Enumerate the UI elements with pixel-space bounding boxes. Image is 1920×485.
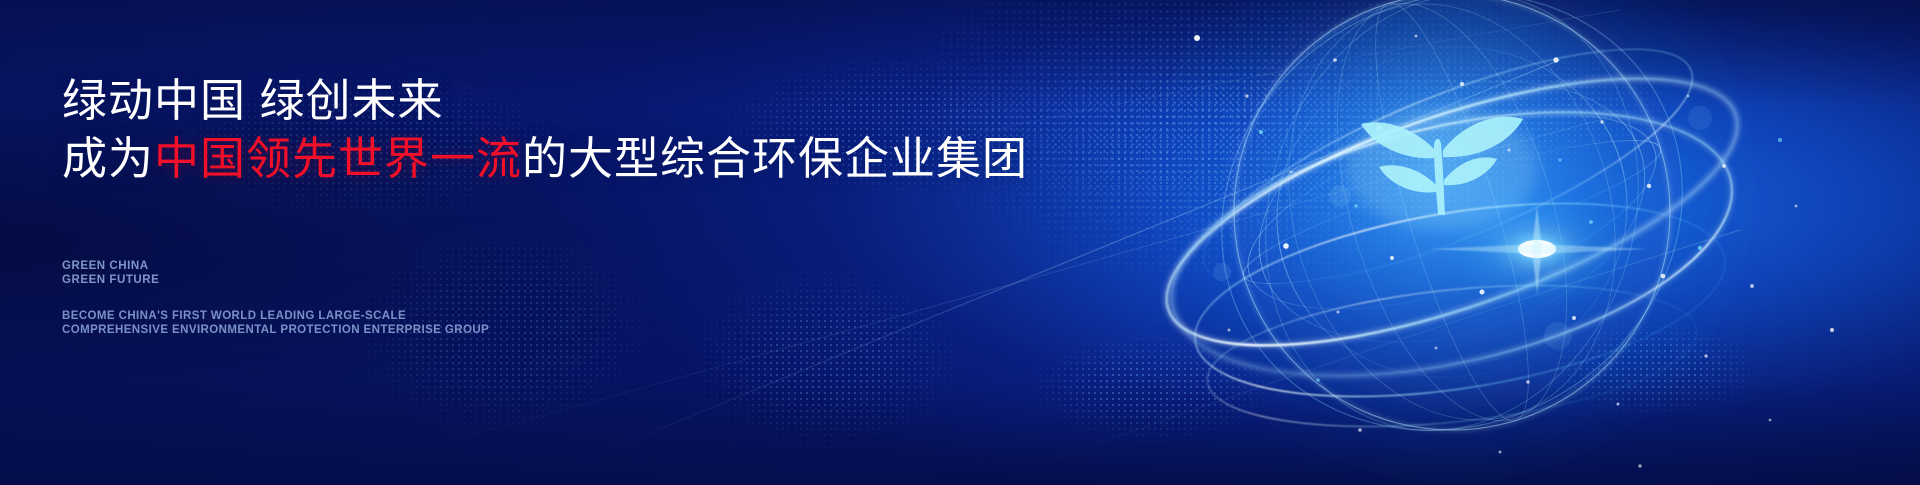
headline-secondary-accent: 中国领先世界一流 [154, 133, 522, 184]
subtitle-line-2: COMPREHENSIVE ENVIRONMENTAL PROTECTION E… [62, 323, 489, 337]
tagline-line-2: GREEN FUTURE [62, 273, 159, 287]
headline-secondary: 成为中国领先世界一流的大型综合环保企业集团 [62, 136, 1028, 181]
tagline-line-1: GREEN CHINA [62, 259, 159, 273]
subtitle-line-1: BECOME CHINA'S FIRST WORLD LEADING LARGE… [62, 309, 489, 323]
headline-primary: 绿动中国 绿创未来 [62, 78, 444, 123]
tagline: GREEN CHINA GREEN FUTURE [62, 259, 159, 287]
hero-banner: 绿动中国 绿创未来 成为中国领先世界一流的大型综合环保企业集团 GREEN CH… [0, 0, 1920, 485]
headline-secondary-suffix: 的大型综合环保企业集团 [522, 133, 1028, 184]
decorative-graphics-layer [0, 0, 1920, 485]
sprout-glow [1346, 106, 1538, 230]
headline-secondary-prefix: 成为 [62, 133, 154, 184]
wireframe-globe [1132, 0, 1834, 485]
subtitle: BECOME CHINA'S FIRST WORLD LEADING LARGE… [62, 309, 489, 337]
